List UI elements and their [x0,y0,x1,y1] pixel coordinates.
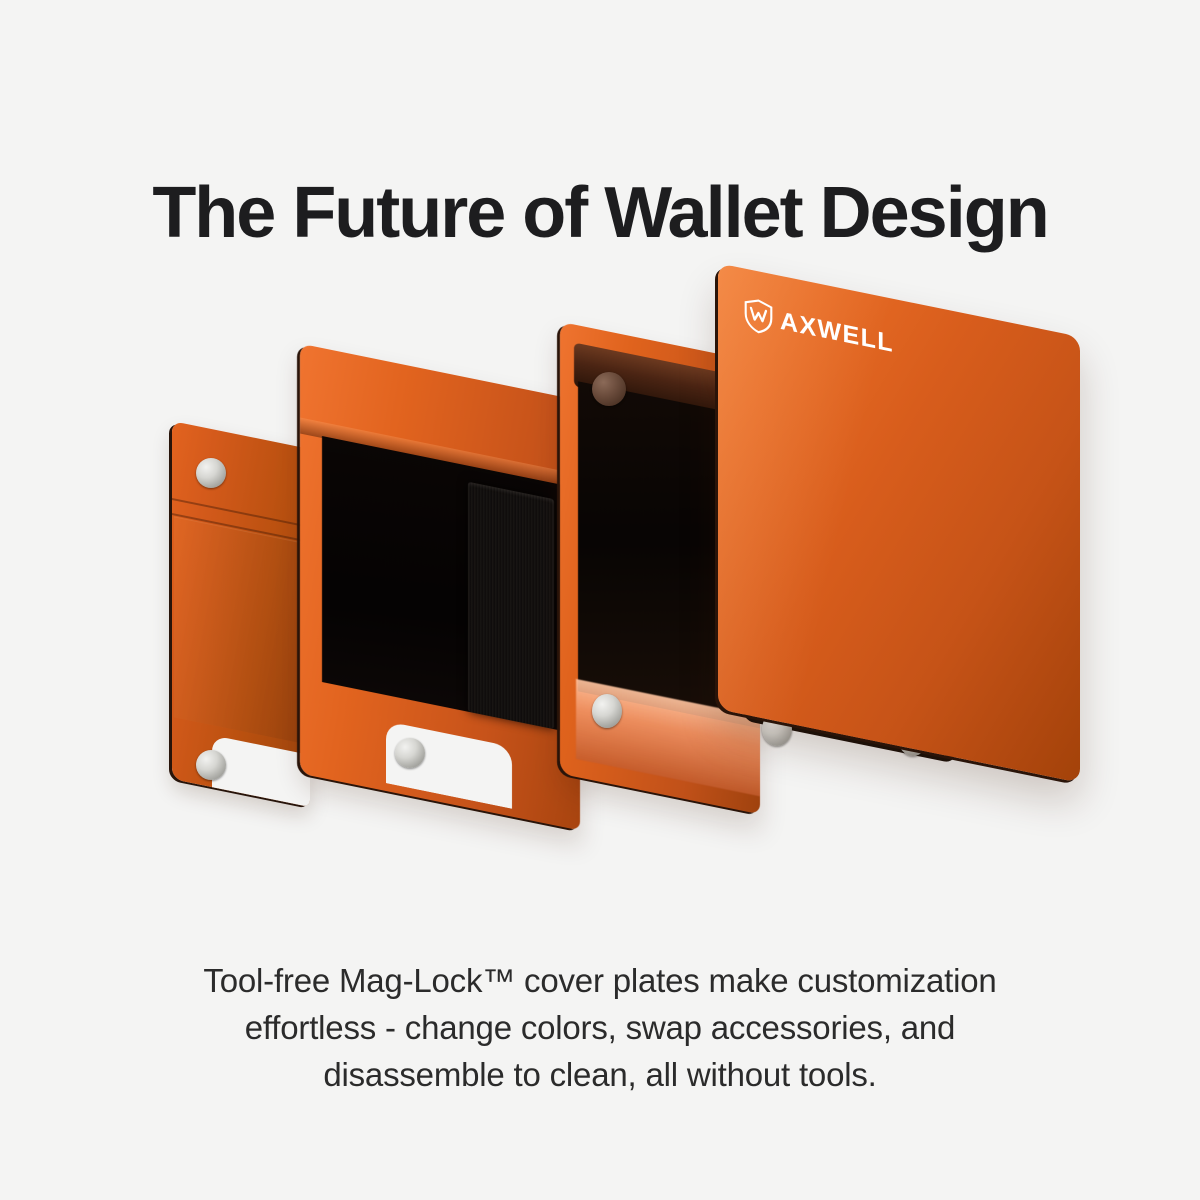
brand-logo-lockup: AXWELL [744,296,894,361]
description-line-2: effortless - change colors, swap accesso… [80,1005,1120,1052]
description-line-3: disassemble to clean, all without tools. [80,1052,1120,1099]
description-line-1: Tool-free Mag-Lock™ cover plates make cu… [80,958,1120,1005]
product-promo-card: The Future of Wallet Design [0,0,1200,1200]
rivet-icon [196,458,226,488]
rivet-icon [196,750,226,780]
rivet-icon [592,694,622,728]
rivet-icon [395,738,425,768]
page-title: The Future of Wallet Design [0,176,1200,252]
wallet-back-plate [172,421,310,807]
plate-inner-panel [174,516,310,745]
elastic-money-strap [468,482,554,729]
wallet-card-cage [300,372,580,802]
thumb-slide-notch [212,735,310,807]
product-exploded-view: AXWELL [0,280,1200,860]
product-description: Tool-free Mag-Lock™ cover plates make cu… [80,958,1120,1099]
rivet-icon [592,372,626,406]
shield-icon [744,296,773,336]
brand-name: AXWELL [780,308,894,356]
metal-sheen [718,263,1080,783]
wallet-front-cover-plate: AXWELL [718,263,1080,783]
